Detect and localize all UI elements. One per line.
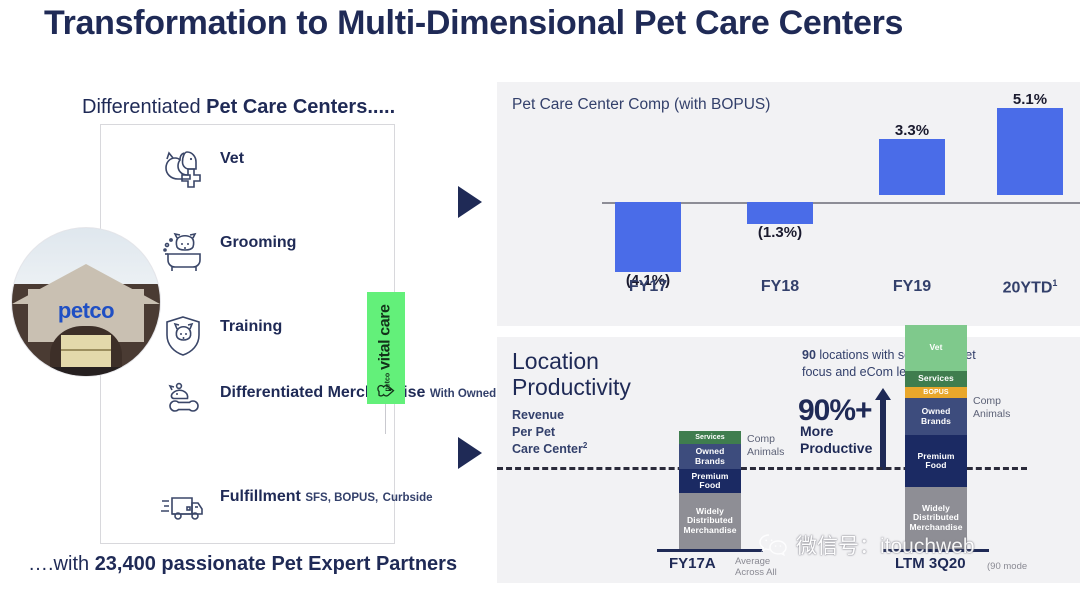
feature-fulfillment-sub-line2: Curbside (383, 492, 433, 504)
stack-segment-premium-food: PremiumFood (905, 435, 967, 487)
comp-bar-group-FY17: (4.1%) (615, 202, 681, 289)
location-annotation-bold: 90 (802, 348, 816, 362)
feature-merchandise-title-line1: Differentiated (220, 384, 323, 401)
stack-segment-services: Services (679, 431, 741, 444)
feature-training-title: Training (220, 318, 282, 335)
feature-fulfillment[interactable]: Fulfillment SFS, BOPUS, Curbside (158, 482, 433, 530)
comp-bar (879, 139, 945, 195)
comp-bar-category: FY19 (867, 278, 957, 296)
location-productivity-subtitle: Revenue Per Pet Care Center2 (512, 407, 587, 458)
left-footer-prefix: ….with (28, 553, 95, 575)
comp-bar (615, 202, 681, 272)
fulfillment-delivery-van-icon (158, 482, 208, 530)
petco-logo-text: petco (12, 298, 160, 324)
comp-bar-value: 3.3% (879, 122, 945, 139)
stack-segment-vet: Vet (905, 325, 967, 371)
left-heading: Differentiated Pet Care Centers..... (82, 96, 395, 119)
arrow-right-bottom-icon (458, 437, 482, 469)
arrow-right-top-icon (458, 186, 482, 218)
petco-storefront-photo: petco (12, 228, 160, 376)
stack-segment-services: Services (905, 371, 967, 387)
feature-grooming-title: Grooming (220, 234, 296, 251)
vital-care-tag-stem (385, 404, 386, 434)
comp-bar-category: FY18 (735, 278, 825, 296)
comp-bar-value: (1.3%) (747, 224, 813, 241)
feature-fulfillment-text: Fulfillment SFS, BOPUS, Curbside (220, 482, 433, 507)
stacked-bar-FY17A: ServicesOwnedBrandsPremiumFoodWidelyDist… (679, 431, 741, 549)
productivity-callout-sub-line2: Productive (800, 440, 872, 457)
feature-vet[interactable]: Vet (158, 144, 244, 192)
feature-fulfillment-sub-line1: SFS, BOPUS, (305, 492, 378, 504)
productivity-callout-sub: More Productive (800, 423, 872, 456)
vital-care-label: vital care (377, 304, 395, 369)
up-arrow-icon (875, 388, 891, 470)
stack-segment-owned-brands: OwnedBrands (905, 398, 967, 435)
photo-ground (12, 367, 160, 376)
loc-sub-line2: Per Pet (512, 424, 587, 441)
photo-door-line (61, 349, 111, 351)
left-heading-bold: Pet Care Centers..... (206, 96, 395, 118)
wechat-logo-icon (758, 532, 788, 558)
comp-chart-title: Pet Care Center Comp (with BOPUS) (512, 96, 770, 114)
vital-care-tag[interactable]: petco vital care (367, 292, 405, 404)
page-title: Transformation to Multi-Dimensional Pet … (44, 4, 903, 43)
location-productivity-title: Location Productivity (512, 349, 631, 401)
comp-bar-category: FY17 (603, 278, 693, 296)
comp-animals-label: CompAnimals (973, 395, 1010, 421)
comp-bar (747, 202, 813, 224)
loc-title-line1: Location (512, 349, 631, 375)
feature-training-text: Training (220, 312, 282, 337)
vital-care-heart-tag-icon (376, 382, 396, 400)
feature-vet-text: Vet (220, 144, 244, 169)
watermark-text: 微信号：itouchweb (796, 530, 975, 560)
feature-training[interactable]: Training (158, 312, 282, 360)
comp-bar-group-20YTD: 5.1% (997, 91, 1063, 195)
feature-grooming-text: Grooming (220, 228, 296, 253)
comp-bar-group-FY19: 3.3% (879, 122, 945, 195)
grooming-bathtub-dog-icon (158, 228, 208, 276)
left-footer-bold: 23,400 passionate Pet Expert Partners (95, 553, 457, 575)
feature-fulfillment-title: Fulfillment (220, 488, 301, 505)
stacked-bar-category-note: (90 mode (987, 561, 1027, 572)
slide-root: Transformation to Multi-Dimensional Pet … (0, 0, 1080, 597)
comp-animals-label: CompAnimals (747, 433, 784, 459)
comp-bar-category: 20YTD1 (985, 278, 1075, 297)
comp-bar-group-FY18: (1.3%) (747, 202, 813, 241)
loc-sub-line1: Revenue (512, 407, 587, 424)
feature-grooming[interactable]: Grooming (158, 228, 296, 276)
loc-sub-line3: Care Center2 (512, 441, 587, 458)
stack-segment-premium-food: PremiumFood (679, 469, 741, 493)
left-footer: ….with 23,400 passionate Pet Expert Part… (28, 553, 457, 576)
stacked-bar-LTM3Q20: VetServicesBOPUSOwnedBrandsPremiumFoodWi… (905, 325, 967, 549)
wechat-watermark: 微信号：itouchweb (758, 530, 975, 560)
stacked-bar-baseline (657, 549, 763, 552)
comp-bar-value: 5.1% (997, 91, 1063, 108)
pet-care-center-comp-panel: Pet Care Center Comp (with BOPUS) (4.1%)… (497, 82, 1080, 326)
left-heading-normal: Differentiated (82, 96, 206, 118)
stack-segment-widely-distributed-merchandise: WidelyDistributedMerchandise (679, 493, 741, 549)
productivity-callout-sub-line1: More (800, 423, 872, 440)
vet-cat-dog-cross-icon (158, 144, 208, 192)
loc-title-line2: Productivity (512, 375, 631, 401)
training-shield-dog-icon (158, 312, 208, 360)
merchandise-dog-bone-icon (158, 378, 208, 426)
stacked-bar-category-label: FY17A (669, 555, 716, 572)
stack-segment-bopus: BOPUS (905, 387, 967, 398)
stack-segment-owned-brands: OwnedBrands (679, 444, 741, 469)
feature-vet-title: Vet (220, 150, 244, 167)
comp-bar (997, 108, 1063, 195)
vital-care-tag-text: petco vital care (377, 304, 395, 391)
